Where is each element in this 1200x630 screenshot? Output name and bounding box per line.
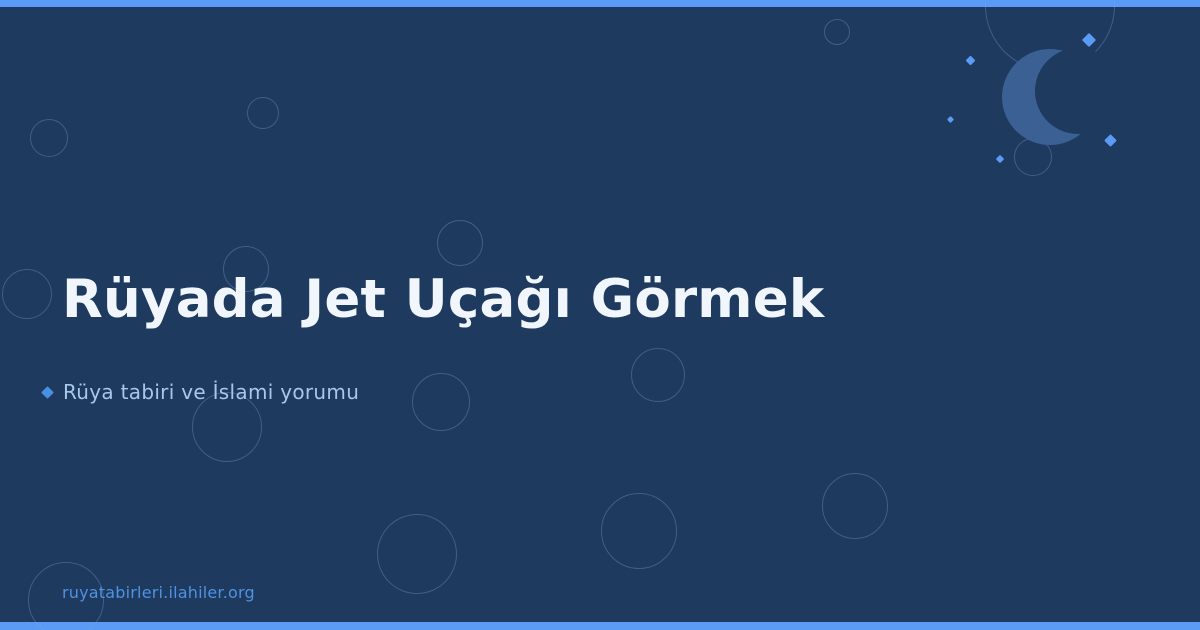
page-title: Rüyada Jet Uçağı Görmek xyxy=(62,270,824,329)
site-url-label: ruyatabirleri.ilahiler.org xyxy=(62,583,255,602)
text-content: Rüyada Jet Uçağı Görmek Rüya tabiri ve İ… xyxy=(62,0,1062,630)
diamond-bullet-icon xyxy=(41,386,54,399)
subtitle-row: Rüya tabiri ve İslami yorumu xyxy=(62,380,359,404)
diamond-star-icon xyxy=(1082,33,1096,47)
diamond-star-icon xyxy=(1104,134,1117,147)
subtitle-label: Rüya tabiri ve İslami yorumu xyxy=(63,380,359,404)
social-share-card: Rüyada Jet Uçağı Görmek Rüya tabiri ve İ… xyxy=(0,0,1200,630)
decorative-circle xyxy=(2,269,52,319)
